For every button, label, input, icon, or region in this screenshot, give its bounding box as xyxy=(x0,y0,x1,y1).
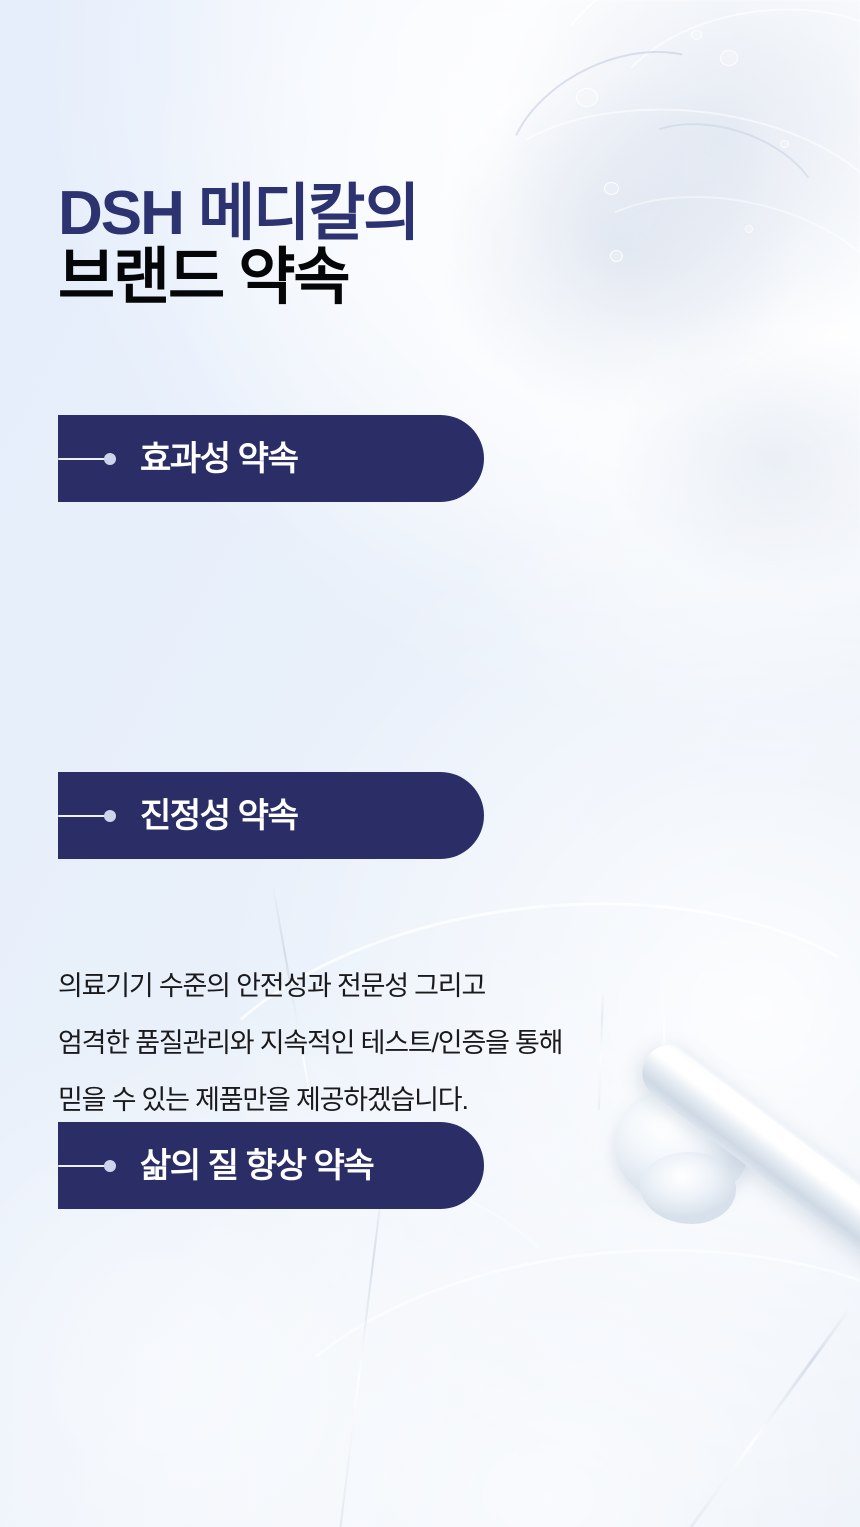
promise-badge-label-1: 효과성 약속 xyxy=(140,442,297,476)
liquid-swirl-icon xyxy=(587,0,860,246)
surface-seam-line xyxy=(598,990,604,1110)
bubble-icon xyxy=(610,250,623,262)
liquid-swirl-icon xyxy=(543,166,860,437)
promise-badge-label-3: 삶의 질 향상 약속 xyxy=(140,1149,373,1183)
promise-badge-1: 효과성 약속 xyxy=(58,415,484,502)
dot-icon xyxy=(104,1160,116,1172)
page-title-line-1: DSH 메디칼의 xyxy=(58,182,418,246)
promise-badge-3: 삶의 질 향상 약속 xyxy=(58,1122,484,1209)
liquid-swirl-icon xyxy=(515,0,860,238)
brand-promise-page: DSH 메디칼의 브랜드 약속 효과성 약속 의료기기 수준의 안전성과 전문성… xyxy=(0,0,860,1527)
promise-body-line: 엄격한 품질관리와 지속적인 테스트/인증을 통해 xyxy=(58,1015,562,1072)
promise-section-2: 진정성 약속 여성의 건강하고 행복한 삶을 최우선으로 생각하고 고객의 불편… xyxy=(0,772,860,859)
promise-body-line: 의료기기 수준의 안전성과 전문성 그리고 xyxy=(58,958,562,1015)
liquid-swirl-icon xyxy=(476,15,767,269)
line-segment-icon xyxy=(58,1165,108,1168)
liquid-swirl-icon xyxy=(606,100,838,281)
page-title-line-2: 브랜드 약속 xyxy=(58,246,418,310)
dot-icon xyxy=(104,810,116,822)
arrow-line-dot-icon xyxy=(58,810,120,822)
bubble-icon xyxy=(604,182,619,195)
arrow-line-dot-icon xyxy=(58,453,120,465)
droplet-trail-icon xyxy=(663,990,665,1094)
bubble-icon xyxy=(745,225,753,233)
surface-seam-line xyxy=(672,1308,851,1527)
droplet-icon xyxy=(659,1064,668,1075)
bubble-icon xyxy=(780,140,789,148)
promise-badge-2: 진정성 약속 xyxy=(58,772,484,859)
bubble-icon xyxy=(576,88,598,107)
liquid-swirl-icon xyxy=(458,88,860,376)
liquid-arc-decoration xyxy=(226,1223,860,1527)
dot-icon xyxy=(104,453,116,465)
surface-seam-line xyxy=(338,1181,384,1527)
bubble-icon xyxy=(691,30,702,40)
promise-body-line: 믿을 수 있는 제품만을 제공하겠습니다. xyxy=(58,1072,562,1129)
line-segment-icon xyxy=(58,458,108,461)
page-title: DSH 메디칼의 브랜드 약속 xyxy=(58,182,418,310)
arrow-line-dot-icon xyxy=(58,1160,120,1172)
line-segment-icon xyxy=(58,815,108,818)
promise-section-1: 효과성 약속 의료기기 수준의 안전성과 전문성 그리고 엄격한 품질관리와 지… xyxy=(0,415,860,502)
promise-badge-label-2: 진정성 약속 xyxy=(140,799,297,833)
bubble-icon xyxy=(720,50,738,66)
promise-section-3: 삶의 질 향상 약속 단순한 제품을 만들어내는 브랜드가 아닌 우리 브랜드를… xyxy=(0,1122,860,1209)
promise-body-1: 의료기기 수준의 안전성과 전문성 그리고 엄격한 품질관리와 지속적인 테스트… xyxy=(58,958,562,1129)
